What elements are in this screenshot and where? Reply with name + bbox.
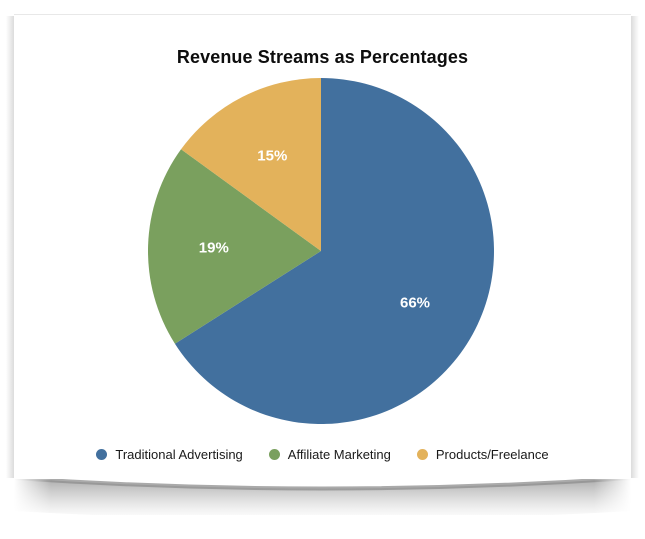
legend-swatch-icon [269, 449, 280, 460]
legend-item-products-freelance[interactable]: Products/Freelance [417, 447, 549, 462]
pie-label-traditional-advertising: 66% [400, 295, 430, 312]
legend-label: Traditional Advertising [115, 447, 242, 462]
chart-legend: Traditional Advertising Affiliate Market… [14, 447, 631, 462]
pie-chart: 66% 19% 15% [14, 15, 631, 479]
pie-label-affiliate-marketing: 19% [199, 240, 229, 257]
pie-label-products-freelance: 15% [257, 147, 287, 164]
screenshot-stage: Revenue Streams as Percentages 66% 19% 1… [0, 0, 645, 539]
legend-item-affiliate-marketing[interactable]: Affiliate Marketing [269, 447, 391, 462]
legend-item-traditional-advertising[interactable]: Traditional Advertising [96, 447, 242, 462]
chart-card: Revenue Streams as Percentages 66% 19% 1… [14, 14, 631, 479]
legend-label: Affiliate Marketing [288, 447, 391, 462]
legend-swatch-icon [417, 449, 428, 460]
legend-label: Products/Freelance [436, 447, 549, 462]
legend-swatch-icon [96, 449, 107, 460]
